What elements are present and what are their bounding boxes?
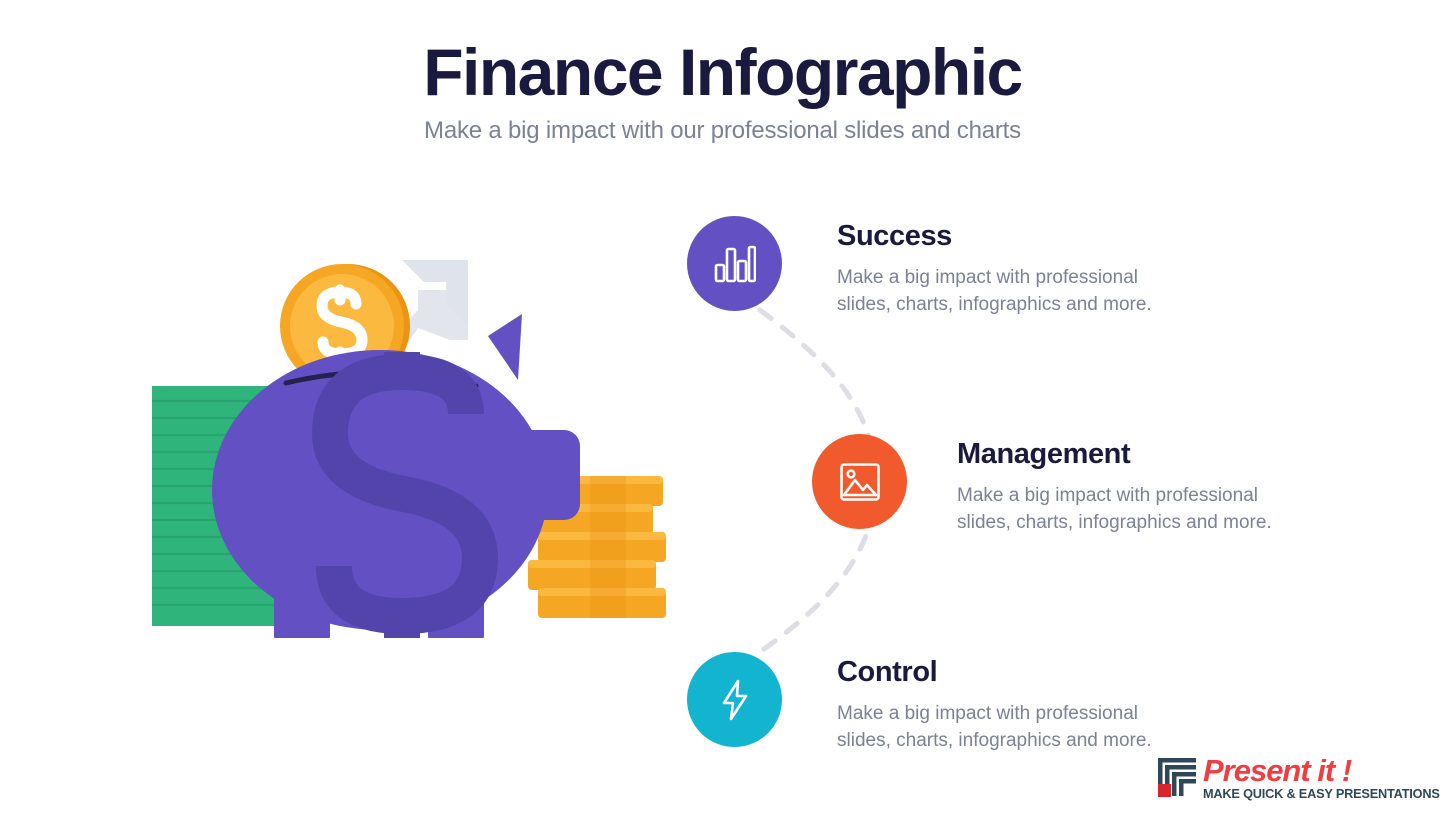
logo-text: Present it ! MAKE QUICK & EASY PRESENTAT…	[1203, 755, 1435, 801]
item-title-control: Control	[837, 656, 1177, 689]
badge-management[interactable]	[812, 434, 907, 529]
present-it-logo-mark-icon	[1158, 755, 1198, 798]
item-description-management: Make a big impact with professional slid…	[957, 483, 1297, 537]
badge-control[interactable]	[687, 652, 782, 747]
badge-success[interactable]	[687, 216, 782, 311]
page-subtitle: Make a big impact with our professional …	[0, 117, 1445, 145]
item-title-management: Management	[957, 438, 1297, 471]
bar-chart-icon	[714, 245, 756, 283]
piggy-bank	[212, 314, 580, 638]
item-text-control: Control Make a big impact with professio…	[837, 652, 1177, 755]
item-title-success: Success	[837, 220, 1177, 253]
page-title: Finance Infographic	[0, 38, 1445, 107]
list-item-control[interactable]: Control Make a big impact with professio…	[687, 652, 1177, 755]
image-icon	[839, 462, 881, 502]
list-item-success[interactable]: Success Make a big impact with professio…	[687, 216, 1177, 319]
piggy-bank-savings-illustration	[150, 218, 690, 638]
lightning-bolt-icon	[720, 679, 750, 721]
item-description-control: Make a big impact with professional slid…	[837, 701, 1177, 755]
brand-logo[interactable]: Present it ! MAKE QUICK & EASY PRESENTAT…	[1158, 755, 1435, 801]
item-description-success: Make a big impact with professional slid…	[837, 265, 1177, 319]
logo-wordmark: Present it !	[1203, 755, 1435, 786]
item-text-management: Management Make a big impact with profes…	[957, 434, 1297, 537]
list-item-management[interactable]: Management Make a big impact with profes…	[812, 434, 1297, 537]
item-text-success: Success Make a big impact with professio…	[837, 216, 1177, 319]
logo-tagline: MAKE QUICK & EASY PRESENTATIONS	[1203, 788, 1440, 801]
header: Finance Infographic Make a big impact wi…	[0, 38, 1445, 145]
